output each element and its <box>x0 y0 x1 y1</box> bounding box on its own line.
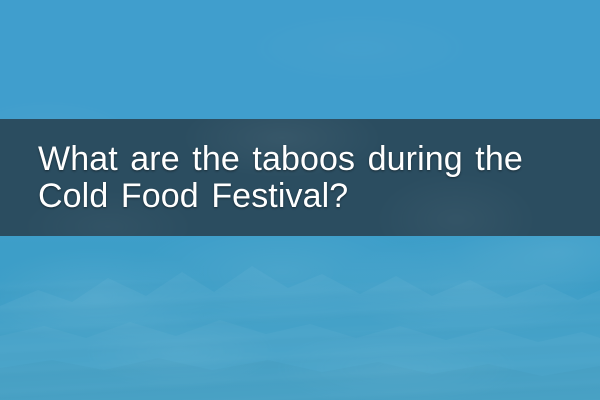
caption-overlay-band: What are the taboos during the Cold Food… <box>0 119 600 236</box>
article-hero-banner: What are the taboos during the Cold Food… <box>0 0 600 400</box>
banner-headline: What are the taboos during the Cold Food… <box>0 141 543 215</box>
